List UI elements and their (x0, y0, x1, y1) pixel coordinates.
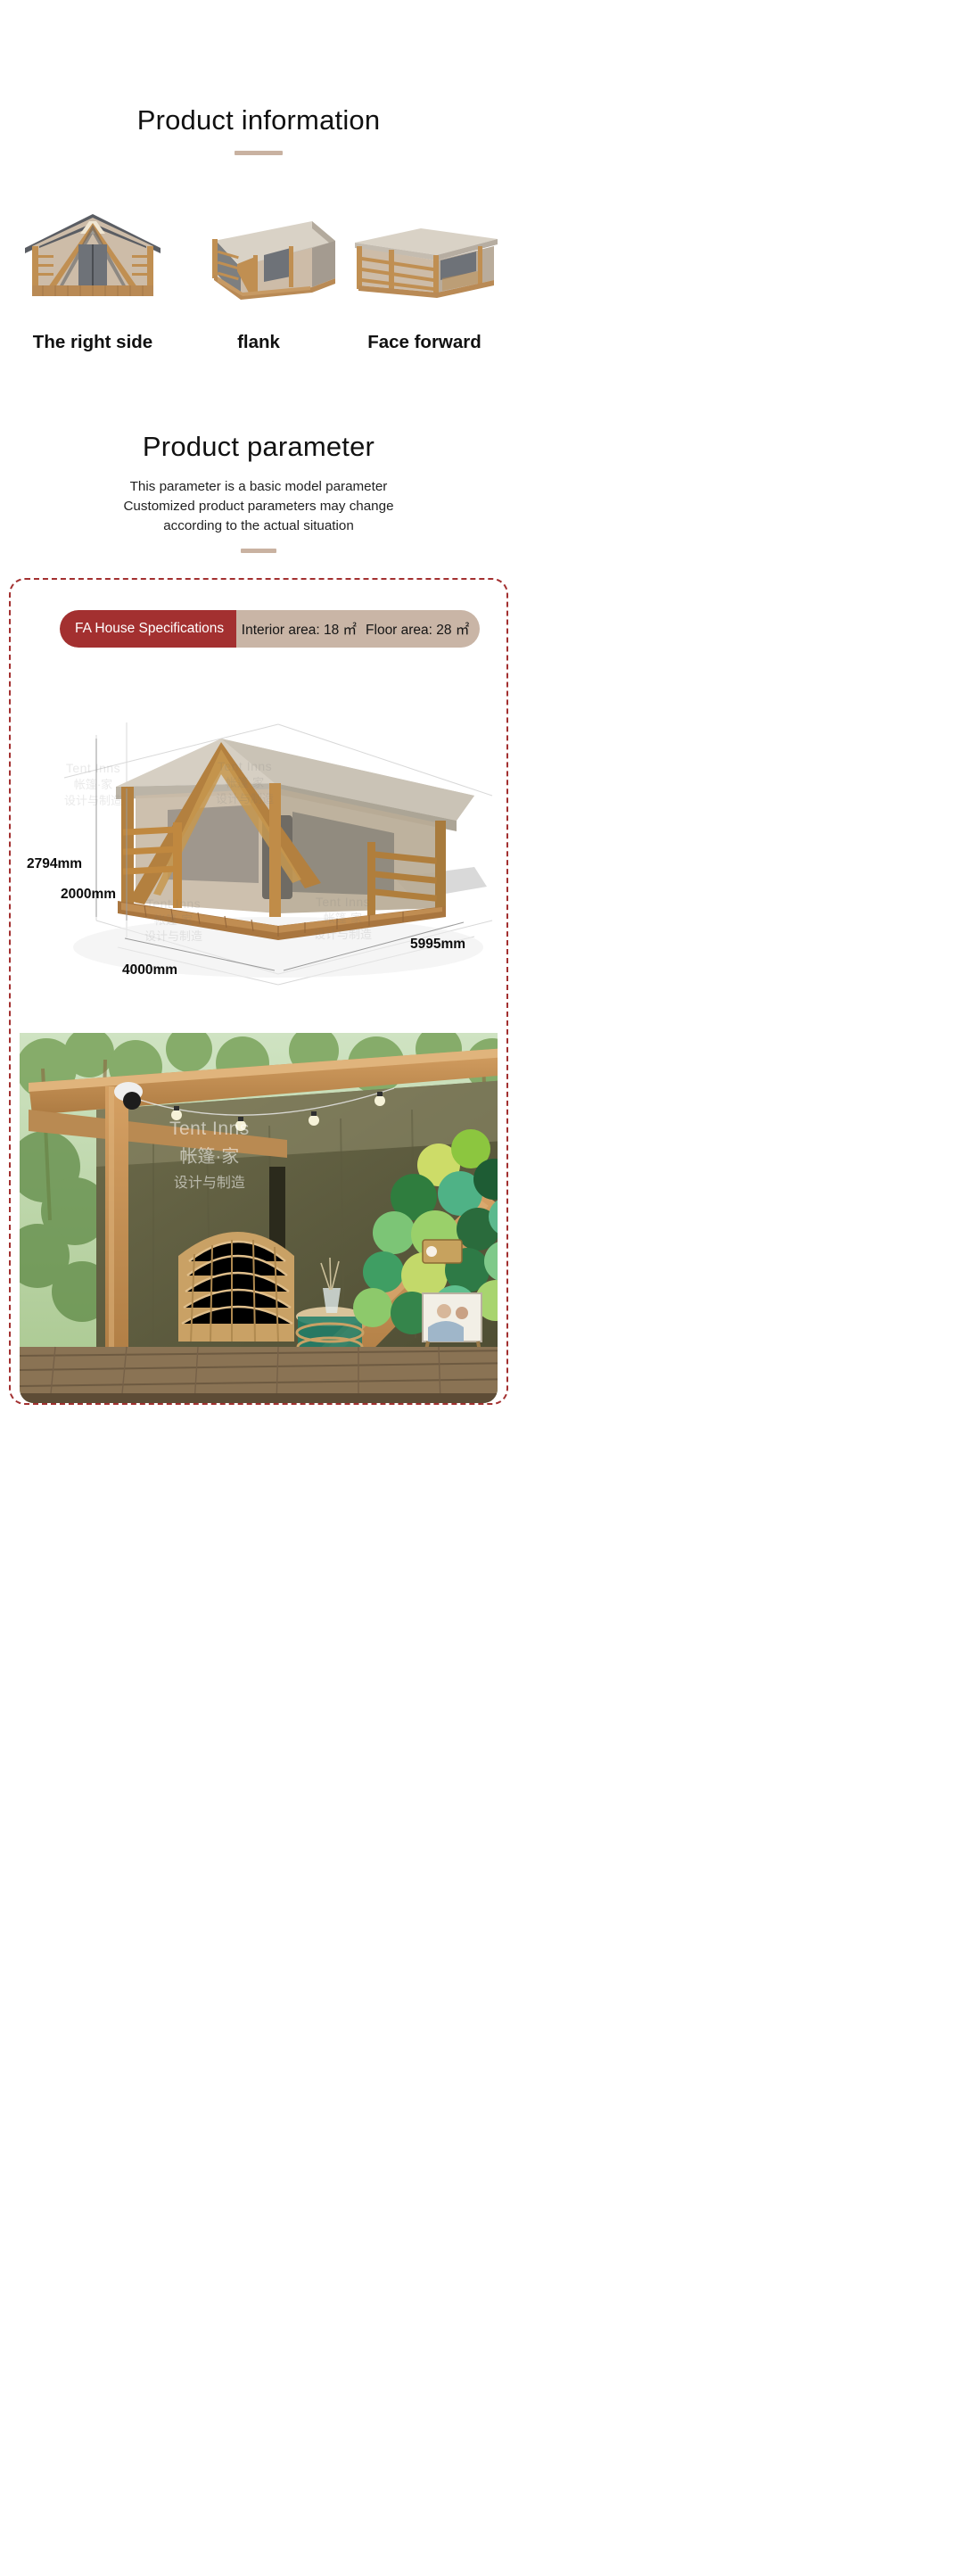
parameter-subtitle: This parameter is a basic model paramete… (0, 477, 517, 536)
product-information-header: Product information (0, 0, 517, 155)
product-detail-page: Product information (0, 0, 517, 1405)
parameter-card: FA House Specifications Interior area: 1… (9, 578, 508, 1405)
dimension-eave-height: 2000mm (61, 887, 116, 903)
spec-values: Interior area: 18 ㎡ Floor area: 28 ㎡ (236, 610, 480, 648)
product-parameter-header: Product parameter This parameter is a ba… (0, 353, 517, 553)
dimension-width: 4000mm (122, 962, 177, 978)
tent-side-view-icon (178, 202, 339, 309)
product-views-row: The right side (0, 155, 517, 353)
dimension-length: 5995mm (410, 937, 465, 953)
product-view-item[interactable]: Face forward (344, 202, 505, 353)
floor-area-value: Floor area: 28 ㎡ (366, 619, 469, 639)
product-view-item[interactable]: flank (178, 202, 339, 353)
parameter-subtitle-line: This parameter is a basic model paramete… (0, 477, 517, 497)
page-title: Product information (0, 105, 517, 136)
tent-3d-drawing (11, 653, 508, 1010)
product-view-item[interactable]: The right side (12, 202, 173, 353)
parameter-title: Product parameter (0, 432, 517, 462)
spec-bar: FA House Specifications Interior area: 1… (60, 610, 480, 648)
parameter-divider (241, 549, 276, 553)
technical-drawing: Tent Inns 帐篷·家 设计与制造 Tent Inns 帐篷·家 设计与制… (11, 653, 506, 1010)
lifestyle-photo: Tent Inns 帐篷·家 设计与制造 (20, 1033, 498, 1403)
spec-label-badge: FA House Specifications (60, 610, 236, 648)
product-view-caption: flank (178, 332, 339, 353)
parameter-subtitle-line: Customized product parameters may change (0, 497, 517, 516)
dimension-ridge-height: 2794mm (27, 856, 82, 872)
parameter-subtitle-line: according to the actual situation (0, 516, 517, 536)
product-view-caption: The right side (12, 332, 173, 353)
interior-area-value: Interior area: 18 ㎡ (242, 619, 357, 639)
product-view-caption: Face forward (344, 332, 505, 353)
tent-rear-view-icon (344, 202, 505, 309)
tent-front-view-icon (12, 202, 173, 309)
